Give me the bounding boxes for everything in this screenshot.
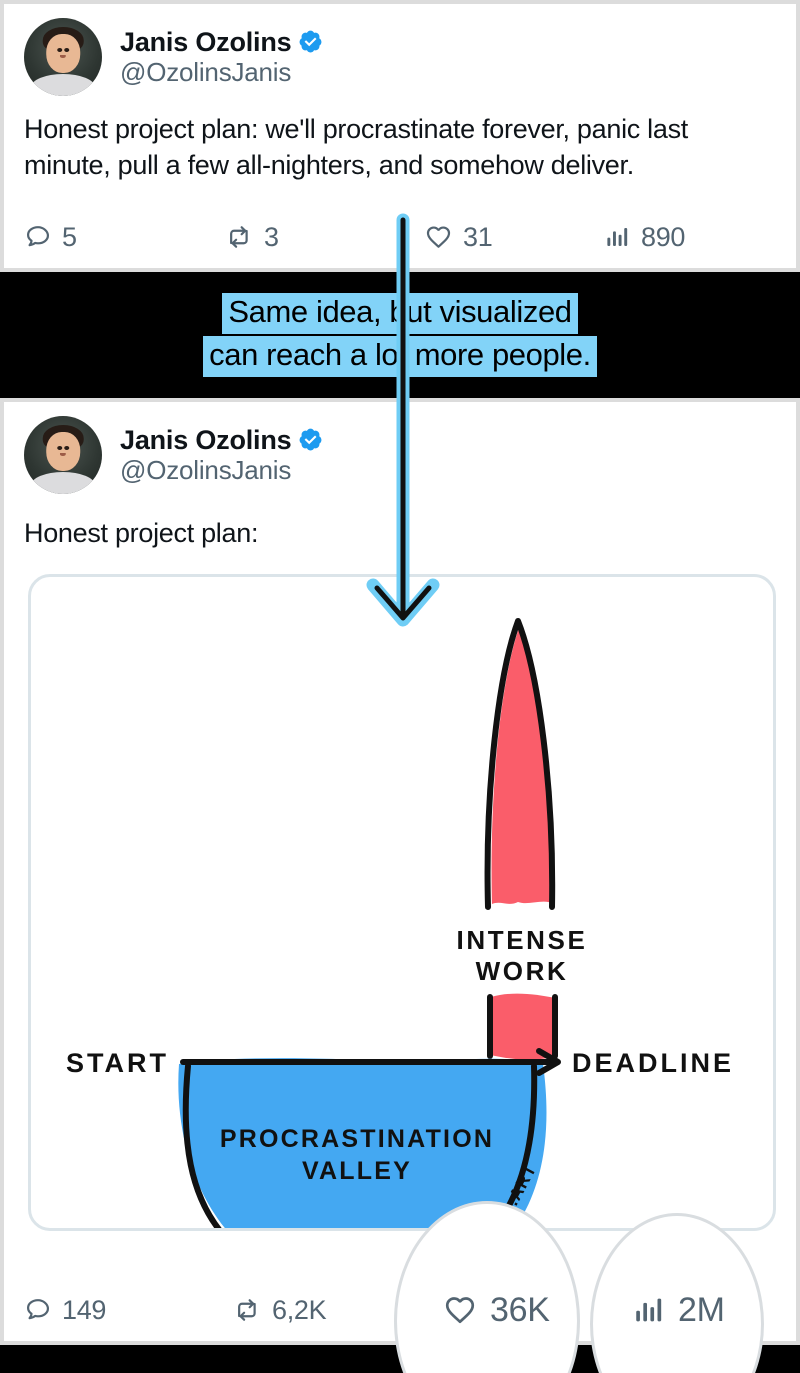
avatar-eye-right [64, 48, 69, 52]
reply-icon [24, 1296, 52, 1324]
procrastination-chart: INTENSE WORK PROCRASTINATION VALLEY OZO.… [31, 577, 773, 1228]
axis-label-start: START [66, 1048, 169, 1078]
avatar-smile [60, 54, 67, 58]
avatar-shoulders [31, 74, 95, 96]
caption-banner: Same idea, but visualized can reach a lo… [0, 276, 800, 394]
retweet-stat[interactable]: 3 [224, 222, 424, 253]
account-handle[interactable]: @OzolinsJanis [120, 58, 323, 87]
like-icon [424, 223, 453, 251]
engagement-bar: 5 3 31 [4, 206, 796, 268]
views-icon [632, 1293, 666, 1327]
views-stat[interactable]: 2M [632, 1291, 725, 1330]
axis-label-deadline: DEADLINE [572, 1048, 734, 1078]
views-stat[interactable]: 890 [604, 222, 685, 253]
display-name-row: Janis Ozolins [120, 27, 323, 57]
engagement-bar: 149 6,2K 36K [4, 1279, 796, 1341]
avatar-face [46, 432, 80, 471]
retweet-count: 3 [264, 222, 279, 253]
display-name-row: Janis Ozolins [120, 425, 323, 455]
intense-work-label-line2: WORK [476, 956, 569, 986]
avatar[interactable] [24, 416, 102, 494]
reply-count: 149 [62, 1295, 106, 1326]
retweet-icon [232, 1296, 262, 1324]
caption-line-2: can reach a lot more people. [203, 336, 597, 377]
reply-stat[interactable]: 149 [24, 1295, 232, 1326]
avatar[interactable] [24, 18, 102, 96]
procrastination-valley-label-line1: PROCRASTINATION [220, 1125, 494, 1153]
like-count: 31 [463, 222, 492, 253]
retweet-count: 6,2K [272, 1295, 326, 1326]
tweet-text: Honest project plan: we'll procrastinate… [4, 96, 796, 183]
avatar-face [46, 34, 80, 73]
reply-icon [24, 223, 52, 251]
avatar-eye-left [57, 48, 62, 52]
intense-work-base-fill [488, 994, 556, 1060]
verified-badge-icon [298, 29, 323, 54]
like-stat[interactable]: 31 [424, 222, 604, 253]
avatar-eye-left [57, 446, 62, 450]
account-handle[interactable]: @OzolinsJanis [120, 456, 323, 485]
tweet-header: Janis Ozolins @OzolinsJanis [4, 4, 796, 96]
views-icon [604, 223, 631, 251]
avatar-smile [60, 452, 67, 456]
tweet-card-original: Janis Ozolins @OzolinsJanis Honest proje… [0, 0, 800, 272]
reply-count: 5 [62, 222, 77, 253]
procrastination-valley-label-line2: VALLEY [302, 1157, 412, 1185]
reply-stat[interactable]: 5 [24, 222, 224, 253]
avatar-eye-right [64, 446, 69, 450]
display-name: Janis Ozolins [120, 27, 291, 57]
account-names: Janis Ozolins @OzolinsJanis [120, 425, 323, 485]
screenshot-root: Janis Ozolins @OzolinsJanis Honest proje… [0, 0, 800, 1373]
verified-badge-icon [298, 427, 323, 452]
retweet-icon [224, 223, 254, 251]
tweet-card-visualized: Janis Ozolins @OzolinsJanis Honest proje… [0, 398, 800, 1345]
like-count: 36K [490, 1291, 550, 1330]
caption-line-1: Same idea, but visualized [222, 293, 577, 334]
views-count: 890 [641, 222, 685, 253]
tweet-header: Janis Ozolins @OzolinsJanis [4, 402, 796, 494]
tweet-text: Honest project plan: [4, 494, 796, 552]
account-names: Janis Ozolins @OzolinsJanis [120, 27, 323, 87]
views-count: 2M [678, 1291, 725, 1330]
avatar-shoulders [31, 472, 95, 494]
display-name: Janis Ozolins [120, 425, 291, 455]
like-icon [442, 1293, 478, 1327]
intense-work-label-line1: INTENSE [457, 925, 588, 955]
chart-illustration-card[interactable]: INTENSE WORK PROCRASTINATION VALLEY OZO.… [28, 574, 776, 1231]
